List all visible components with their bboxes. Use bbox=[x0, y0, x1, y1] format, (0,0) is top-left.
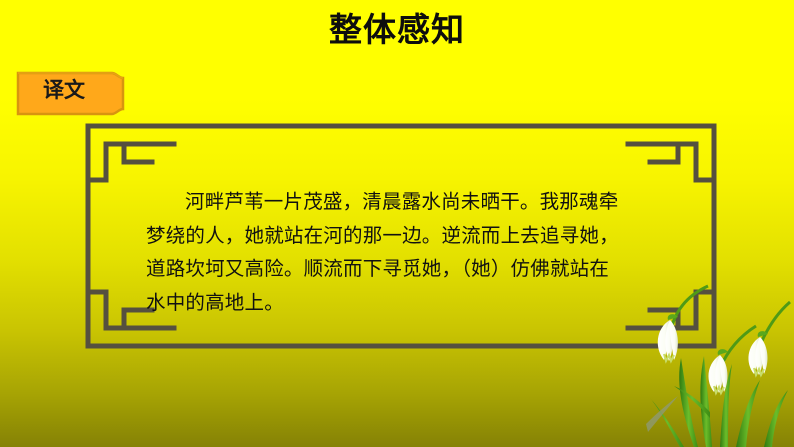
slide-canvas: 整体感知 译文 bbox=[0, 0, 794, 447]
translation-line: 道路坎坷又高险。顺流而下寻觅她，（她）仿佛就站在 bbox=[146, 253, 644, 287]
translation-line: 水中的高地上。 bbox=[146, 287, 644, 321]
translation-line: 梦绕的人，她就站在河的那一边。逆流而上去追寻她， bbox=[146, 220, 644, 254]
translation-banner-label: 译文 bbox=[16, 78, 112, 104]
page-title: 整体感知 bbox=[0, 8, 794, 52]
translation-text-block: 河畔芦苇一片茂盛，清晨露水尚未晒干。我那魂牵 梦绕的人，她就站在河的那一边。逆流… bbox=[146, 186, 644, 320]
translation-line: 河畔芦苇一片茂盛，清晨露水尚未晒干。我那魂牵 bbox=[146, 186, 644, 220]
translation-banner: 译文 bbox=[16, 69, 126, 118]
